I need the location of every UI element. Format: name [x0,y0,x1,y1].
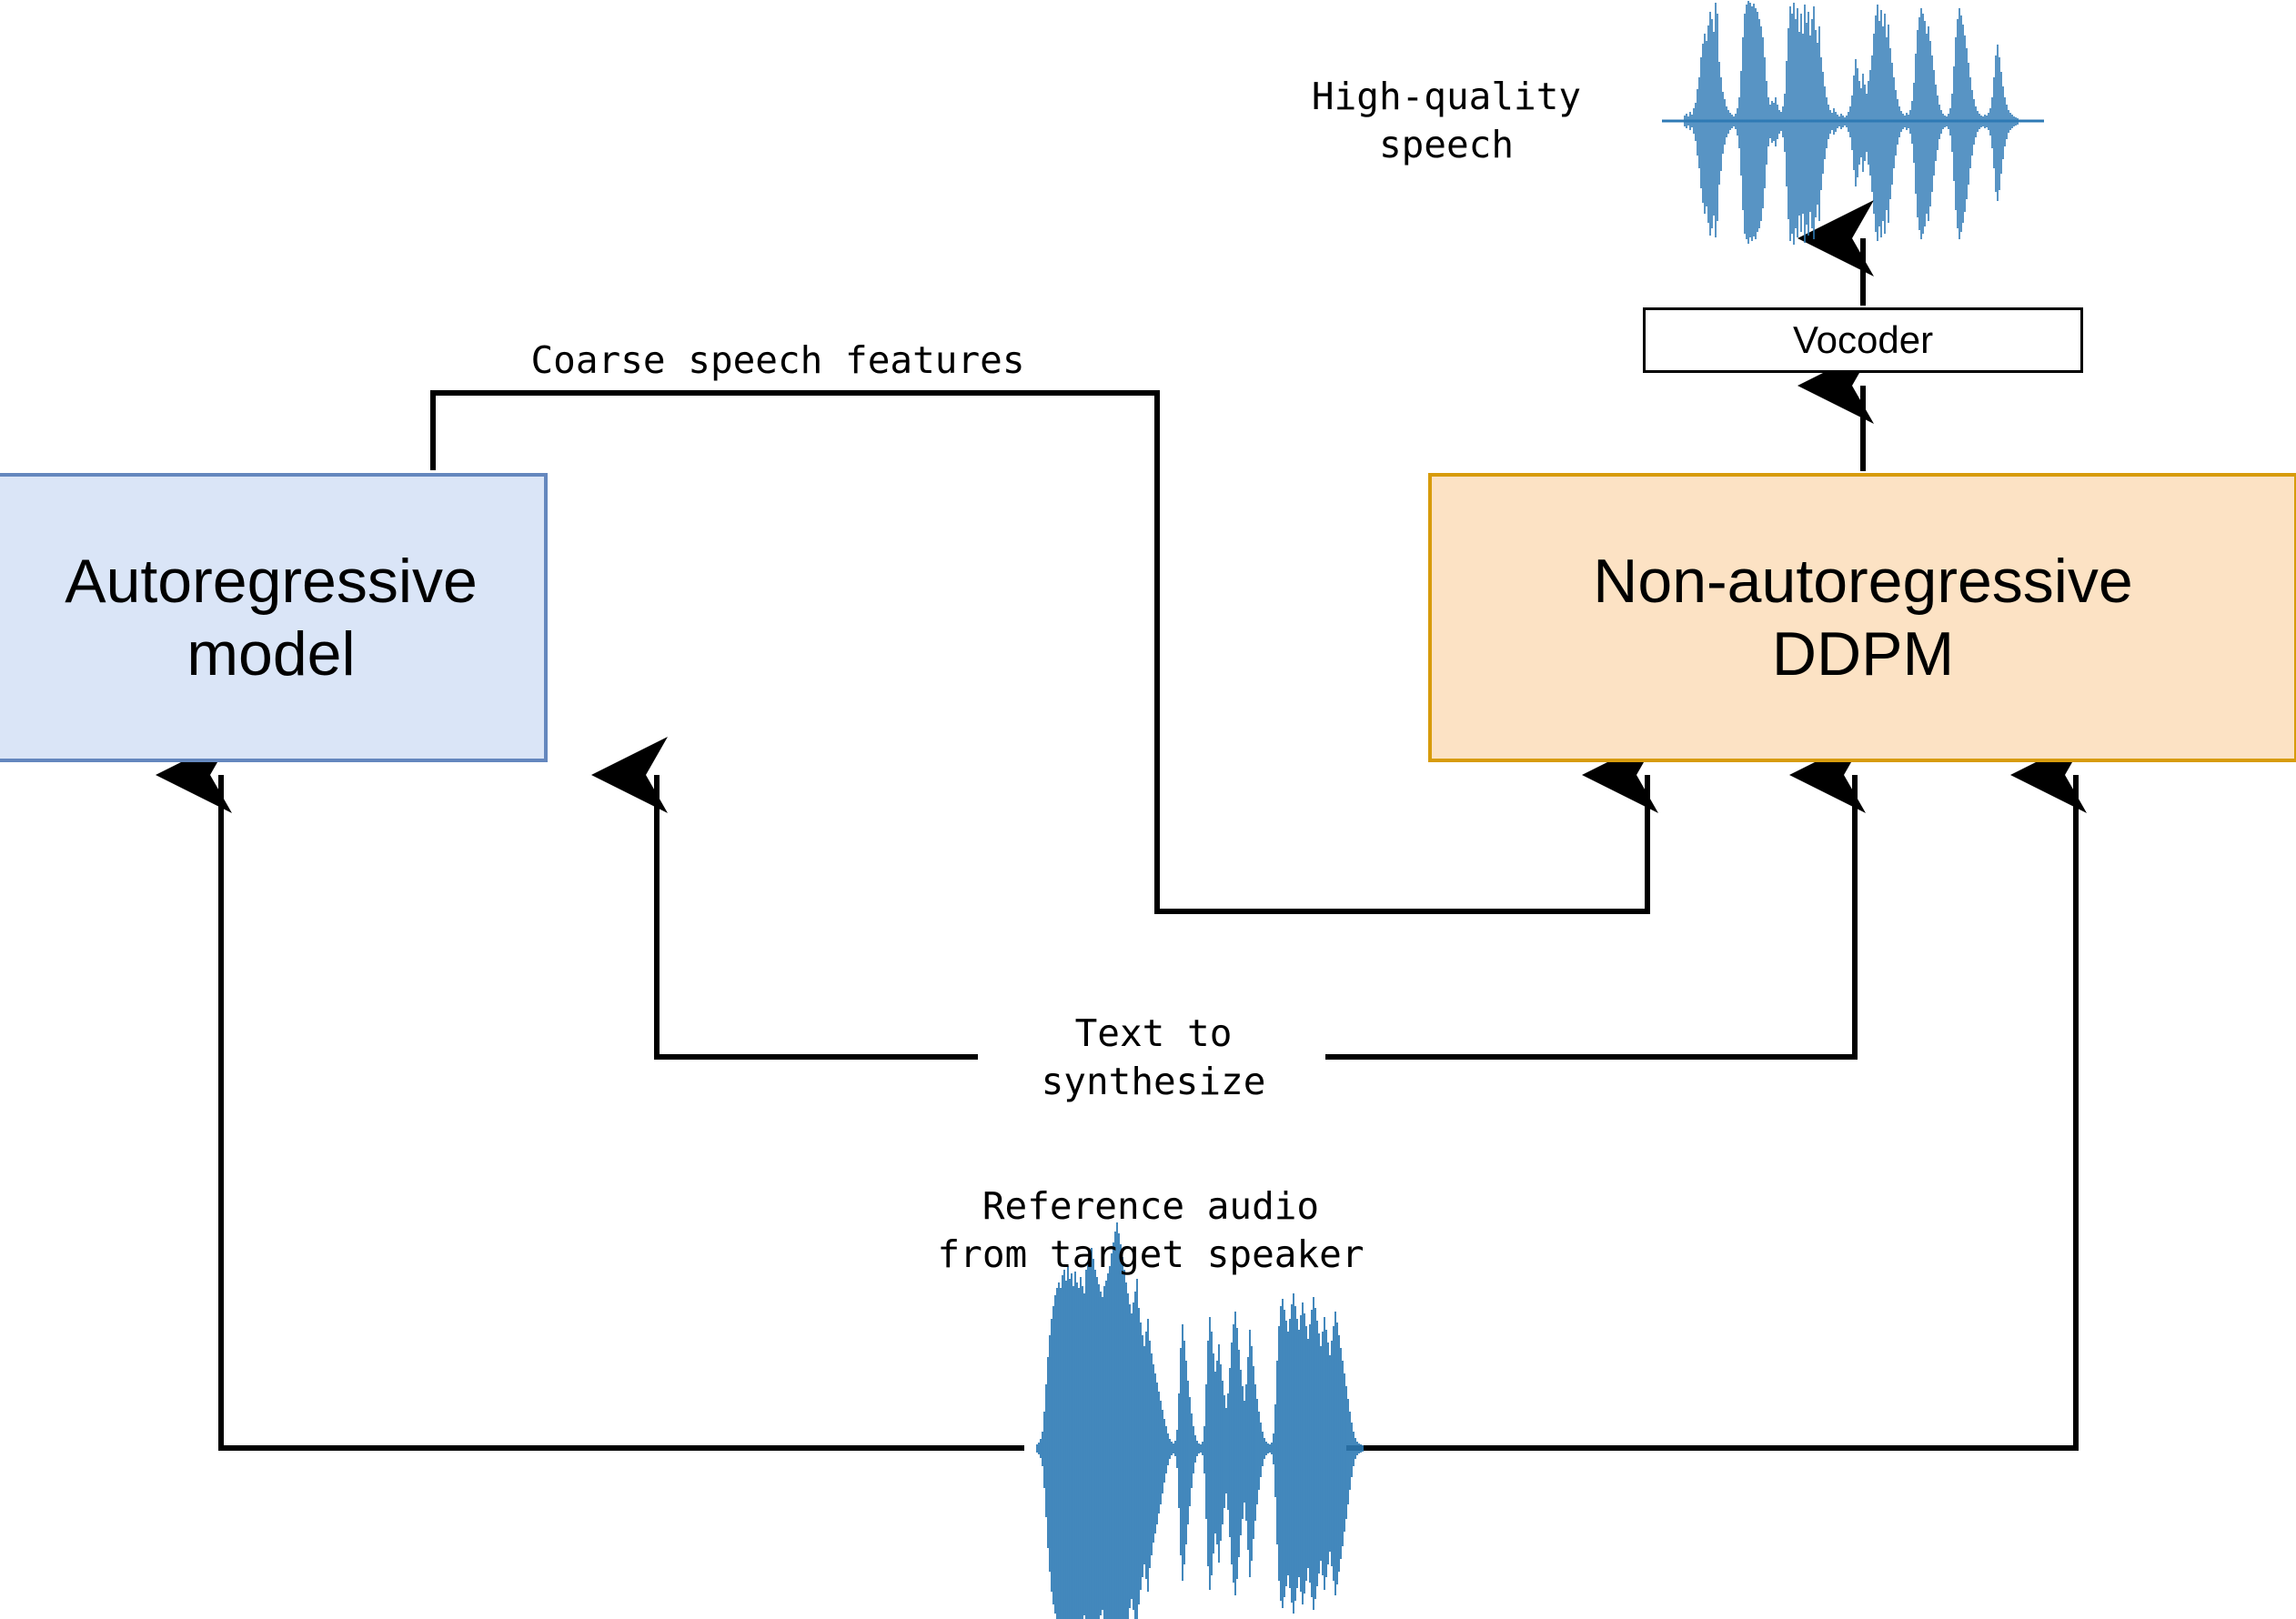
edge-label-coarse-speech-features: Coarse speech features [482,337,1073,385]
edge-coarse-speech-features [433,393,1647,911]
diagram-canvas: Autoregressive model Non-autoregressive … [0,0,2296,1619]
edge-label-high-quality-speech: High-quality speech [1274,73,1619,170]
edge-label-reference-audio: Reference audio from target speaker [855,1182,1446,1280]
edge-text-to-synthesize-left [657,775,978,1057]
edge-reference-audio-left [221,775,1024,1448]
high-quality-speech-waveform [1662,1,2044,245]
reference-audio-waveform [1037,1222,1363,1619]
edge-label-text-to-synthesize: Text to synthesize [990,1010,1317,1107]
edge-reference-audio-right [1346,775,2076,1448]
edge-text-to-synthesize-right [1325,775,1855,1057]
diagram-connectors [0,0,2296,1619]
